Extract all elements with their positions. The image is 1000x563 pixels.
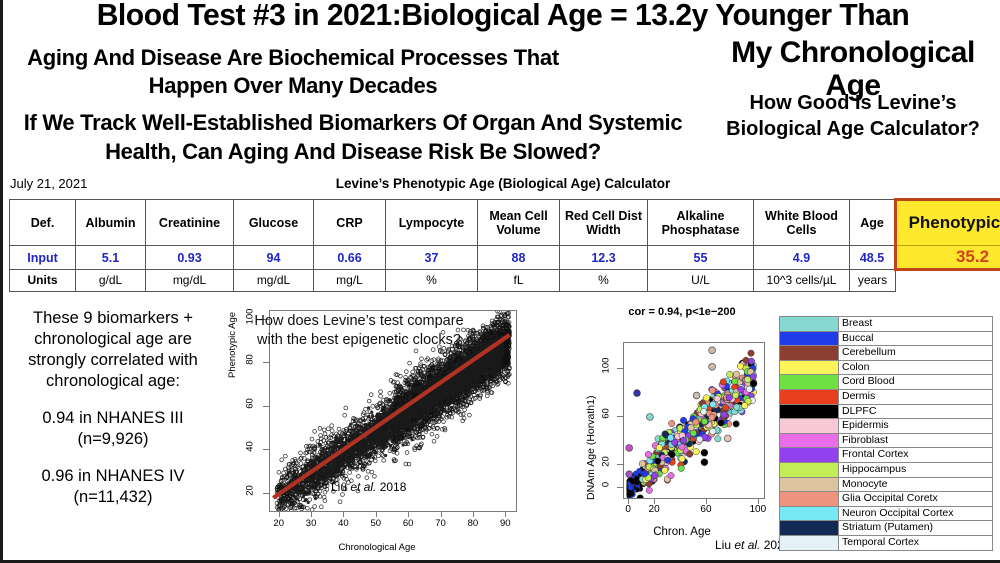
levine-scatter-chart: Phenotypic Age Chronological Age 2040608… — [231, 306, 523, 558]
chart1-y-tick: 40 — [245, 436, 256, 458]
legend-row: DLPFC — [780, 405, 992, 420]
units-creatinine: mg/dL — [146, 270, 234, 292]
input-lympocyte[interactable]: 37 — [386, 246, 478, 270]
legend-label: Temporal Cortex — [839, 536, 992, 550]
slide-root: Blood Test #3 in 2021:Biological Age = 1… — [3, 0, 1000, 560]
chart1-y-tickmark — [263, 449, 269, 450]
chart1-citation-author: Liu et al. 2018 — [331, 480, 406, 494]
chart1-y-axis-label: Phenotypic Age — [227, 312, 238, 378]
legend-row: Hippocampus — [780, 463, 992, 478]
phenotypic-age-table: Def. Albumin Creatinine Glucose CRP Lymp… — [9, 198, 1000, 292]
chart1-x-tickmark — [311, 511, 312, 517]
legend-row: Monocyte — [780, 478, 992, 493]
input-crp[interactable]: 0.66 — [314, 246, 386, 270]
row-label-input: Input — [10, 246, 76, 270]
legend-row: Temporal Cortex — [780, 536, 992, 550]
col-header-glucose: Glucose — [234, 200, 314, 246]
chart1-y-tickmark — [263, 406, 269, 407]
slide-date: July 21, 2021 — [10, 176, 87, 191]
legend-swatch — [780, 346, 839, 360]
legend-swatch — [780, 448, 839, 462]
legend-row: Neuron Occipital Cortex — [780, 507, 992, 522]
chart1-x-tick: 40 — [331, 518, 355, 529]
chart1-x-tickmark — [408, 511, 409, 517]
legend-swatch — [780, 521, 839, 535]
subtitle-aging-disease: Aging And Disease Are Biochemical Proces… — [13, 44, 573, 100]
chart1-x-tick: 80 — [461, 518, 485, 529]
chart1-x-tickmark — [473, 511, 474, 517]
legend-row: Dermis — [780, 390, 992, 405]
spacer — [7, 392, 219, 408]
input-white-blood-cells[interactable]: 4.9 — [754, 246, 850, 270]
input-alkaline-phosphatase[interactable]: 55 — [648, 246, 754, 270]
units-mean-cell-volume: fL — [478, 270, 560, 292]
chart1-x-tickmark — [343, 511, 344, 517]
table-title: Levine’s Phenotypic Age (Biological Age)… — [233, 176, 773, 191]
row-label-units: Units — [10, 270, 76, 292]
chart1-y-tickmark — [263, 362, 269, 363]
chart1-x-tickmark — [279, 511, 280, 517]
chart1-y-tick: 60 — [245, 392, 256, 414]
legend-swatch — [780, 492, 839, 506]
chart2-y-tick: 0 — [601, 474, 612, 496]
correlation-note-para2: 0.94 in NHANES III (n=9,926) — [7, 408, 219, 450]
col-header-albumin: Albumin — [76, 200, 146, 246]
legend-row: Colon — [780, 361, 992, 376]
horvath-scatter-chart: cor = 0.94, p<1e−200 DNAm Age (Horvath1)… — [587, 304, 777, 554]
legend-label: Hippocampus — [839, 463, 992, 477]
chart1-x-tick: 20 — [267, 518, 291, 529]
chart1-x-tick: 90 — [493, 518, 517, 529]
chart1-y-tick: 80 — [245, 349, 256, 371]
legend-label: Fibroblast — [839, 434, 992, 448]
input-albumin[interactable]: 5.1 — [76, 246, 146, 270]
legend-label: Breast — [839, 317, 992, 331]
chart2-y-tickmark — [617, 464, 623, 465]
input-mean-cell-volume[interactable]: 88 — [478, 246, 560, 270]
chart1-x-tickmark — [441, 511, 442, 517]
chart1-annotation: How does Levine’s test compare with the … — [253, 312, 465, 350]
units-age: years — [850, 270, 896, 292]
input-creatinine[interactable]: 0.93 — [146, 246, 234, 270]
input-red-cell-dist-width[interactable]: 12.3 — [560, 246, 648, 270]
chart2-x-tick: 0 — [617, 504, 639, 515]
phenotypic-age-value: 35.2 — [896, 246, 1000, 270]
input-age[interactable]: 48.5 — [850, 246, 896, 270]
legend-label: DLPFC — [839, 405, 992, 419]
col-header-age: Age — [850, 200, 896, 246]
legend-swatch — [780, 507, 839, 521]
chart1-x-tickmark — [376, 511, 377, 517]
table-input-row: Input 5.1 0.93 94 0.66 37 88 12.3 55 4.9… — [10, 246, 1000, 270]
legend-row: Breast — [780, 317, 992, 332]
legend-label: Monocyte — [839, 478, 992, 492]
legend-swatch — [780, 434, 839, 448]
legend-swatch — [780, 361, 839, 375]
units-lympocyte: % — [386, 270, 478, 292]
legend-row: Striatum (Putamen) — [780, 521, 992, 536]
col-header-crp: CRP — [314, 200, 386, 246]
legend-row: Cord Blood — [780, 375, 992, 390]
legend-row: Glia Occipital Coretx — [780, 492, 992, 507]
legend-row: Fibroblast — [780, 434, 992, 449]
chart2-plot-area — [623, 342, 765, 499]
chart2-title: cor = 0.94, p<1e−200 — [587, 306, 777, 318]
col-header-mean-cell-volume: Mean Cell Volume — [478, 200, 560, 246]
chart2-x-axis-label: Chron. Age — [597, 526, 767, 538]
legend-swatch — [780, 390, 839, 404]
chart2-y-axis-label: DNAm Age (Horvath1) — [585, 396, 597, 500]
legend-row: Epidermis — [780, 419, 992, 434]
col-header-alkaline-phosphatase: Alkaline Phosphatase — [648, 200, 754, 246]
legend-label: Buccal — [839, 332, 992, 346]
chart2-y-tickmark — [617, 416, 623, 417]
col-header-red-cell-dist-width: Red Cell Dist Width — [560, 200, 648, 246]
legend-swatch — [780, 375, 839, 389]
spacer — [7, 450, 219, 466]
legend-label: Glia Occipital Coretx — [839, 492, 992, 506]
chart2-x-tickmark — [628, 498, 629, 504]
units-glucose: mg/dL — [234, 270, 314, 292]
legend-label: Dermis — [839, 390, 992, 404]
units-albumin: g/dL — [76, 270, 146, 292]
legend-label: Cord Blood — [839, 375, 992, 389]
units-crp: mg/L — [314, 270, 386, 292]
legend-label: Epidermis — [839, 419, 992, 433]
legend-swatch — [780, 332, 839, 346]
chart2-y-tick: 60 — [601, 402, 612, 424]
chart2-x-tick: 20 — [643, 504, 665, 515]
units-alkaline-phosphatase: U/L — [648, 270, 754, 292]
chart2-y-tick: 100 — [601, 355, 612, 377]
legend-row: Frontal Cortex — [780, 448, 992, 463]
chart2-x-tickmark — [758, 498, 759, 504]
col-header-phenotypic-age: Phenotypic Age — [896, 200, 1000, 246]
legend-swatch — [780, 536, 839, 550]
correlation-note: These 9 biomarkers + chronological age a… — [7, 308, 219, 508]
legend-swatch — [780, 419, 839, 433]
input-glucose[interactable]: 94 — [234, 246, 314, 270]
units-white-blood-cells: 10^3 cells/µL — [754, 270, 850, 292]
chart2-y-tickmark — [617, 487, 623, 488]
units-phenotypic-age-blank — [896, 270, 1000, 292]
legend-row: Buccal — [780, 332, 992, 347]
col-header-white-blood-cells: White Blood Cells — [754, 200, 850, 246]
chart1-x-tick: 30 — [299, 518, 323, 529]
table-header-row: Def. Albumin Creatinine Glucose CRP Lymp… — [10, 200, 1000, 246]
legend-swatch — [780, 478, 839, 492]
chart1-x-axis-label: Chronological Age — [231, 542, 523, 553]
legend-label: Colon — [839, 361, 992, 375]
legend-swatch — [780, 317, 839, 331]
chart1-x-tick: 60 — [396, 518, 420, 529]
col-header-def: Def. — [10, 200, 76, 246]
chart1-citation: Liu et al. 2018 — [331, 480, 406, 494]
legend-label: Striatum (Putamen) — [839, 521, 992, 535]
units-red-cell-dist-width: % — [560, 270, 648, 292]
legend-swatch — [780, 405, 839, 419]
legend-label: Frontal Cortex — [839, 448, 992, 462]
legend-row: Cerebellum — [780, 346, 992, 361]
col-header-lympocyte: Lympocyte — [386, 200, 478, 246]
chart2-x-tick: 60 — [695, 504, 717, 515]
correlation-note-para1: These 9 biomarkers + chronological age a… — [7, 308, 219, 392]
chart2-y-tick: 20 — [601, 450, 612, 472]
chart1-y-tickmark — [263, 493, 269, 494]
table-units-row: Units g/dL mg/dL mg/dL mg/L % fL % U/L 1… — [10, 270, 1000, 292]
chart1-x-tick: 50 — [364, 518, 388, 529]
chart2-y-tickmark — [617, 368, 623, 369]
chart2-x-tick: 100 — [747, 504, 769, 515]
chart1-x-tickmark — [505, 511, 506, 517]
chart2-svg — [624, 343, 764, 498]
legend-swatch — [780, 463, 839, 477]
chart2-x-tickmark — [706, 498, 707, 504]
page-title: Blood Test #3 in 2021:Biological Age = 1… — [18, 0, 988, 32]
col-header-creatinine: Creatinine — [146, 200, 234, 246]
chart1-x-tick: 70 — [429, 518, 453, 529]
subtitle-calculator-question: How Good Is Levine’s Biological Age Calc… — [703, 90, 1000, 142]
legend-label: Cerebellum — [839, 346, 992, 360]
correlation-note-para3: 0.96 in NHANES IV (n=11,432) — [7, 466, 219, 508]
subtitle-biomarkers-question: If We Track Well-Established Biomarkers … — [3, 108, 703, 166]
legend-label: Neuron Occipital Cortex — [839, 507, 992, 521]
chart2-x-tickmark — [654, 498, 655, 504]
chart1-y-tick: 20 — [245, 479, 256, 501]
tissue-legend: BreastBuccalCerebellumColonCord BloodDer… — [779, 316, 993, 551]
